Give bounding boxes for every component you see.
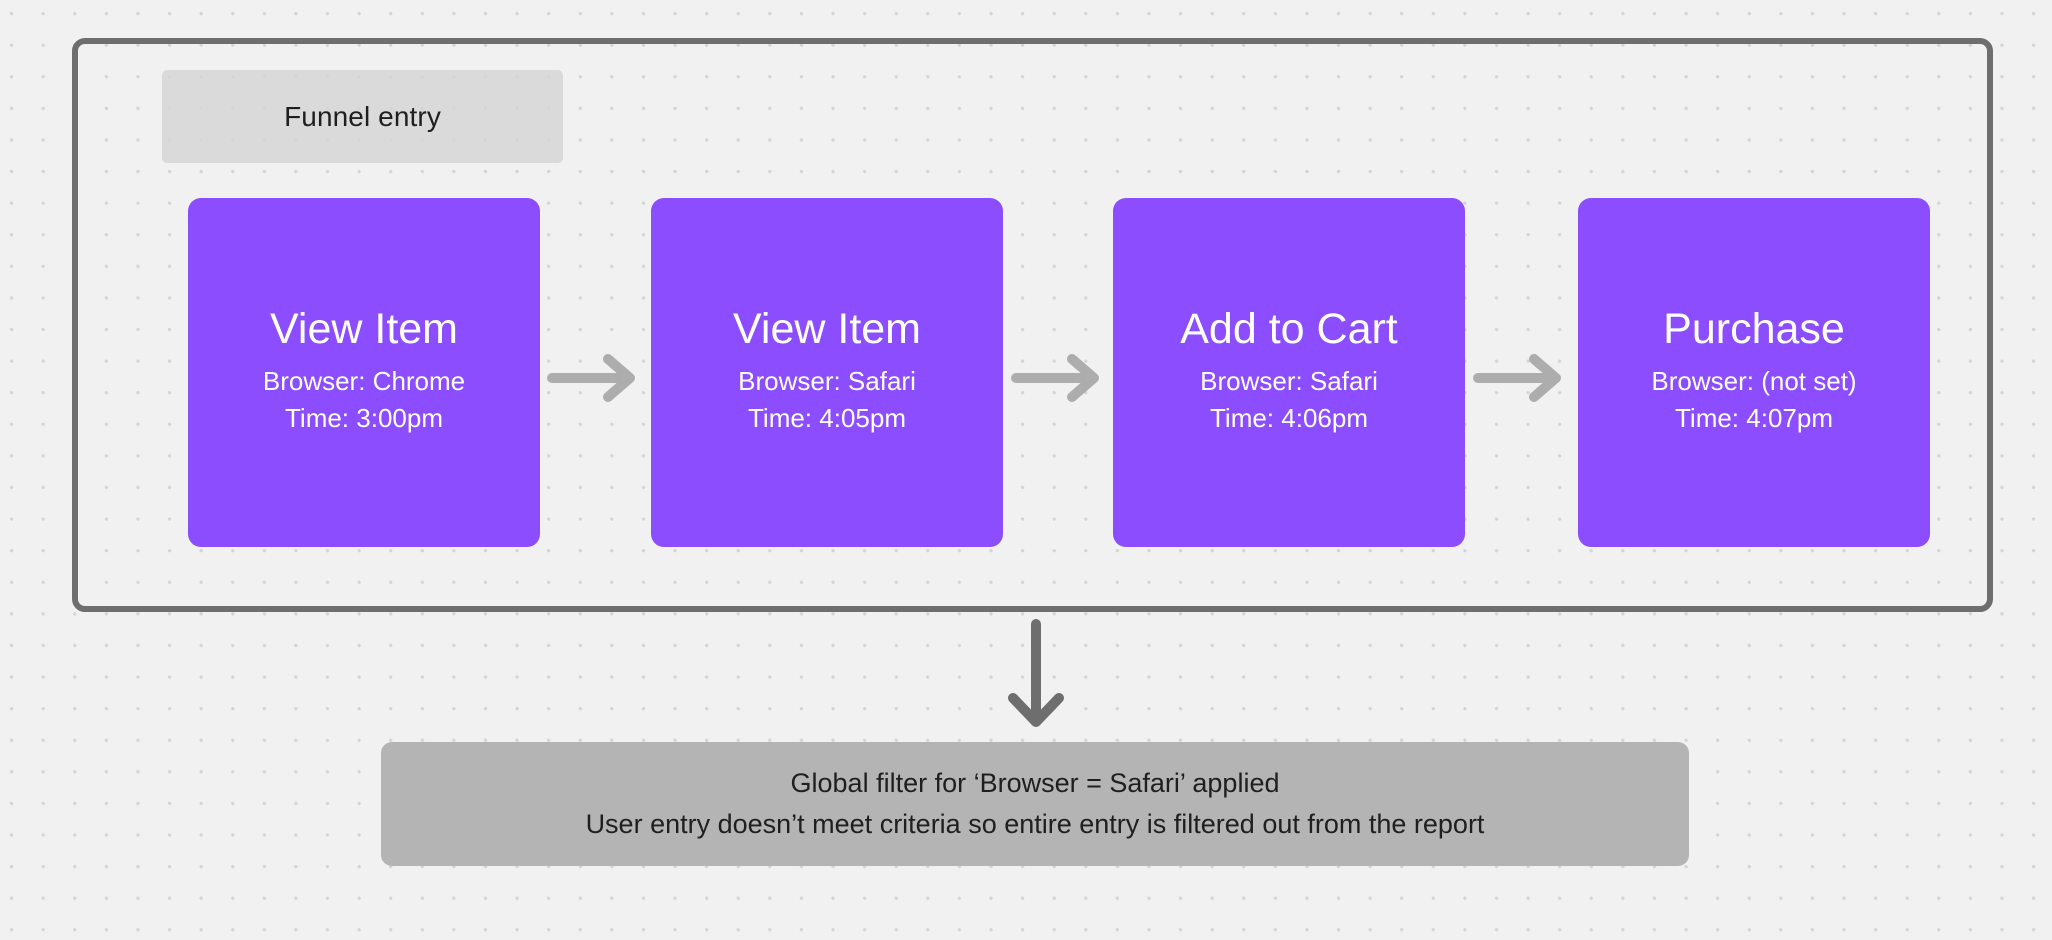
diagram-canvas: Funnel entry View Item Browser: Chrome T…	[0, 0, 2052, 940]
funnel-step-card[interactable]: View Item Browser: Safari Time: 4:05pm	[651, 198, 1003, 547]
funnel-entry-chip: Funnel entry	[162, 70, 563, 163]
filter-callout: Global filter for ‘Browser = Safari’ app…	[381, 742, 1689, 866]
callout-line-secondary: User entry doesn’t meet criteria so enti…	[586, 804, 1485, 845]
step-browser: Browser: (not set)	[1651, 363, 1856, 400]
funnel-step-card[interactable]: Add to Cart Browser: Safari Time: 4:06pm	[1113, 198, 1465, 547]
step-time: Time: 4:06pm	[1210, 400, 1368, 437]
step-browser: Browser: Safari	[1200, 363, 1378, 400]
arrow-right-icon	[1472, 350, 1568, 406]
step-browser: Browser: Safari	[738, 363, 916, 400]
funnel-step-card[interactable]: Purchase Browser: (not set) Time: 4:07pm	[1578, 198, 1930, 547]
step-title: Purchase	[1663, 308, 1845, 351]
step-browser: Browser: Chrome	[263, 363, 465, 400]
step-title: View Item	[733, 308, 921, 351]
step-time: Time: 3:00pm	[285, 400, 443, 437]
step-time: Time: 4:05pm	[748, 400, 906, 437]
funnel-step-card[interactable]: View Item Browser: Chrome Time: 3:00pm	[188, 198, 540, 547]
callout-line-primary: Global filter for ‘Browser = Safari’ app…	[791, 763, 1280, 804]
funnel-entry-label: Funnel entry	[284, 101, 441, 133]
step-title: Add to Cart	[1180, 308, 1398, 351]
step-time: Time: 4:07pm	[1675, 400, 1833, 437]
arrow-down-icon	[1000, 618, 1072, 732]
step-title: View Item	[270, 308, 458, 351]
arrow-right-icon	[1010, 350, 1106, 406]
arrow-right-icon	[546, 350, 642, 406]
